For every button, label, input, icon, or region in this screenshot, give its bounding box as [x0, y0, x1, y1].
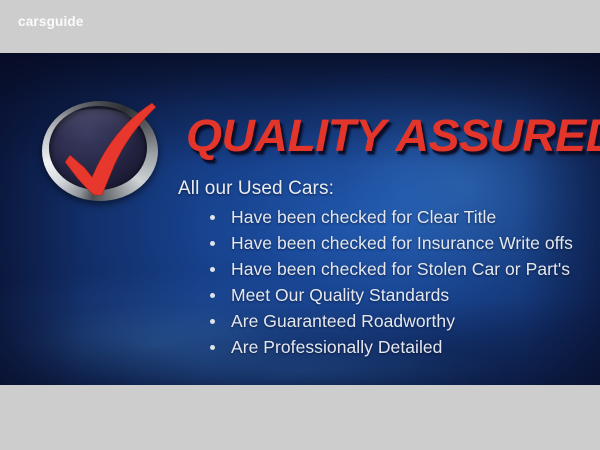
bullet-dot-icon: [210, 267, 215, 272]
list-item-label: Have been checked for Insurance Write of…: [231, 233, 573, 253]
list-item-label: Meet Our Quality Standards: [231, 285, 449, 305]
bullet-dot-icon: [210, 215, 215, 220]
promo-banner-image: carsguide QUALITY ASSURED All our Used C…: [0, 0, 600, 450]
lede-text: All our Used Cars:: [178, 177, 334, 201]
checkmark-icon: [40, 98, 160, 204]
carsguide-watermark: carsguide: [18, 14, 84, 29]
bullet-dot-icon: [210, 293, 215, 298]
list-item: Have been checked for Stolen Car or Part…: [205, 256, 573, 282]
list-item-label: Are Professionally Detailed: [231, 337, 442, 357]
list-item-label: Have been checked for Stolen Car or Part…: [231, 259, 570, 279]
list-item-label: Are Guaranteed Roadworthy: [231, 311, 455, 331]
quality-assured-banner: QUALITY ASSURED All our Used Cars: Have …: [0, 53, 600, 385]
list-item: Have been checked for Clear Title: [205, 204, 573, 230]
bullet-dot-icon: [210, 319, 215, 324]
bullet-dot-icon: [210, 241, 215, 246]
quality-check-badge: [40, 98, 160, 204]
list-item: Have been checked for Insurance Write of…: [205, 230, 573, 256]
list-item: Are Guaranteed Roadworthy: [205, 308, 573, 334]
benefits-list: Have been checked for Clear Title Have b…: [205, 204, 573, 360]
bullet-dot-icon: [210, 345, 215, 350]
list-item: Are Professionally Detailed: [205, 334, 573, 360]
list-item-label: Have been checked for Clear Title: [231, 207, 496, 227]
headline-quality-assured: QUALITY ASSURED: [186, 111, 600, 161]
list-item: Meet Our Quality Standards: [205, 282, 573, 308]
